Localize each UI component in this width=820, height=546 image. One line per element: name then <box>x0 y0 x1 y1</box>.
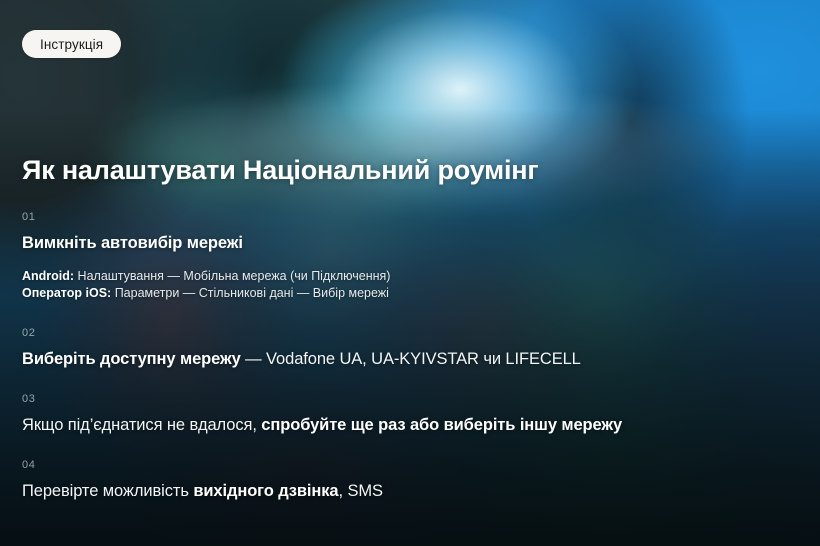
instruction-banner: Інструкція Як налаштувати Національний р… <box>0 0 820 546</box>
substep-item: Android: Налаштування — Мобільна мережа … <box>22 268 800 285</box>
step-text-bold: спробуйте ще раз або виберіть іншу мереж… <box>261 416 622 434</box>
instruction-badge-label: Інструкція <box>40 37 103 52</box>
step-item: 02 Виберіть доступну мережу — Vodafone U… <box>22 326 800 370</box>
substep-item: Оператор iOS: Параметри — Стільникові да… <box>22 285 800 302</box>
step-number: 02 <box>22 326 800 340</box>
steps-list: 01 Вимкніть автовибір мережі Android: На… <box>22 210 800 502</box>
step-number: 04 <box>22 458 800 472</box>
step-text: Вимкніть автовибір мережі <box>22 232 800 254</box>
step-text: Якщо під’єднатися не вдалося, спробуйте … <box>22 414 800 436</box>
substep-path: Параметри — Стільникові дані — Вибір мер… <box>111 286 389 300</box>
step-item: 01 Вимкніть автовибір мережі Android: На… <box>22 210 800 302</box>
substep-path: Налаштування — Мобільна мережа (чи Підкл… <box>74 269 390 283</box>
content-root: Інструкція Як налаштувати Національний р… <box>0 0 820 546</box>
step-text-bold: Виберіть доступну мережу <box>22 350 241 368</box>
substep-platform-label: Android: <box>22 269 74 283</box>
step-text-bold: вихідного дзвінка <box>193 482 338 500</box>
step-text-tail: , SMS <box>339 482 383 500</box>
step-text-rest: — Vodafone UA, UA-KYIVSTAR чи LIFECELL <box>241 350 581 368</box>
substeps-list: Android: Налаштування — Мобільна мережа … <box>22 268 800 302</box>
step-number: 03 <box>22 392 800 406</box>
step-text-bold: Вимкніть автовибір мережі <box>22 234 243 252</box>
step-text: Виберіть доступну мережу — Vodafone UA, … <box>22 348 800 370</box>
substep-platform-label: Оператор iOS: <box>22 286 111 300</box>
step-text-rest: Перевірте можливість <box>22 482 193 500</box>
step-number: 01 <box>22 210 800 224</box>
instruction-badge[interactable]: Інструкція <box>22 30 121 58</box>
step-text-rest: Якщо під’єднатися не вдалося, <box>22 416 261 434</box>
step-text: Перевірте можливість вихідного дзвінка, … <box>22 480 800 502</box>
step-item: 04 Перевірте можливість вихідного дзвінк… <box>22 458 800 502</box>
page-title: Як налаштувати Національний роумінг <box>22 155 538 186</box>
step-item: 03 Якщо під’єднатися не вдалося, спробуй… <box>22 392 800 436</box>
